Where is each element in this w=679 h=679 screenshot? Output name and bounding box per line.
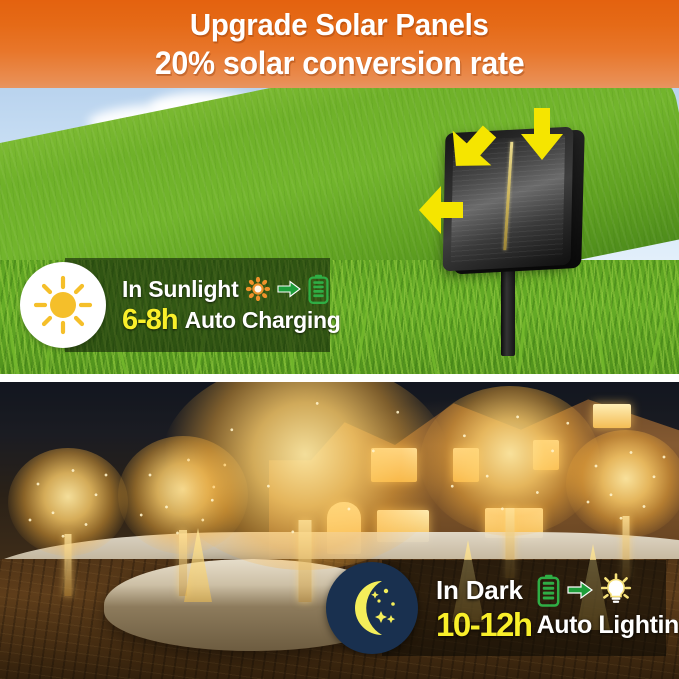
- sun-icon: [20, 262, 106, 348]
- sun-small-icon: [246, 277, 270, 301]
- moon-icon: [326, 562, 418, 654]
- solar-panel-assembly: [437, 116, 607, 351]
- auto-charging-label: Auto Charging: [185, 304, 341, 336]
- lit-tree: [566, 430, 679, 580]
- section-divider: [0, 374, 679, 382]
- arrow-right-icon: [277, 279, 301, 299]
- grass-blade: [355, 308, 369, 378]
- in-sunlight-badge: In Sunlight: [20, 258, 330, 352]
- badge-text-block: In Sunlight: [122, 274, 340, 336]
- in-dark-label: In Dark: [436, 575, 523, 605]
- moon-glyph: [335, 571, 409, 645]
- auto-lighting-label: Auto Lighting: [537, 607, 679, 643]
- panel-stake: [501, 264, 515, 356]
- badge-text-block: In Dark: [436, 573, 679, 643]
- lightbulb-icon: [599, 573, 633, 607]
- header-title-line2: 20% solar conversion rate: [155, 44, 525, 83]
- tree-trunk-lights: [299, 520, 312, 602]
- grass-blade: [648, 310, 665, 377]
- badge-line-1: In Dark: [436, 573, 679, 607]
- battery-full-icon: [308, 274, 329, 304]
- sun-ray-arrow-right: [412, 186, 470, 234]
- badge-line-1: In Sunlight: [122, 274, 340, 304]
- header-banner: Upgrade Solar Panels 20% solar conversio…: [0, 0, 679, 88]
- grass-blade: [8, 326, 19, 378]
- product-infographic: Upgrade Solar Panels 20% solar conversio…: [0, 0, 679, 679]
- battery-full-icon: [537, 574, 560, 607]
- header-title-line1: Upgrade Solar Panels: [190, 5, 489, 44]
- in-sunlight-label: In Sunlight: [122, 276, 239, 303]
- arrow-right-icon: [567, 579, 593, 601]
- tree-trunk-lights: [65, 534, 72, 596]
- badge-line-2: 6-8h Auto Charging: [122, 304, 340, 336]
- sun-glyph: [32, 274, 94, 336]
- badge-line-2: 10-12h Auto Lighting: [436, 607, 679, 643]
- in-dark-badge: In Dark: [326, 560, 666, 656]
- sun-ray-arrow-down: [519, 106, 565, 162]
- lighting-duration: 10-12h: [436, 607, 532, 643]
- lit-tree: [8, 448, 128, 598]
- charging-duration: 6-8h: [122, 304, 178, 336]
- sun-ray-arrow-down-right: [443, 122, 501, 174]
